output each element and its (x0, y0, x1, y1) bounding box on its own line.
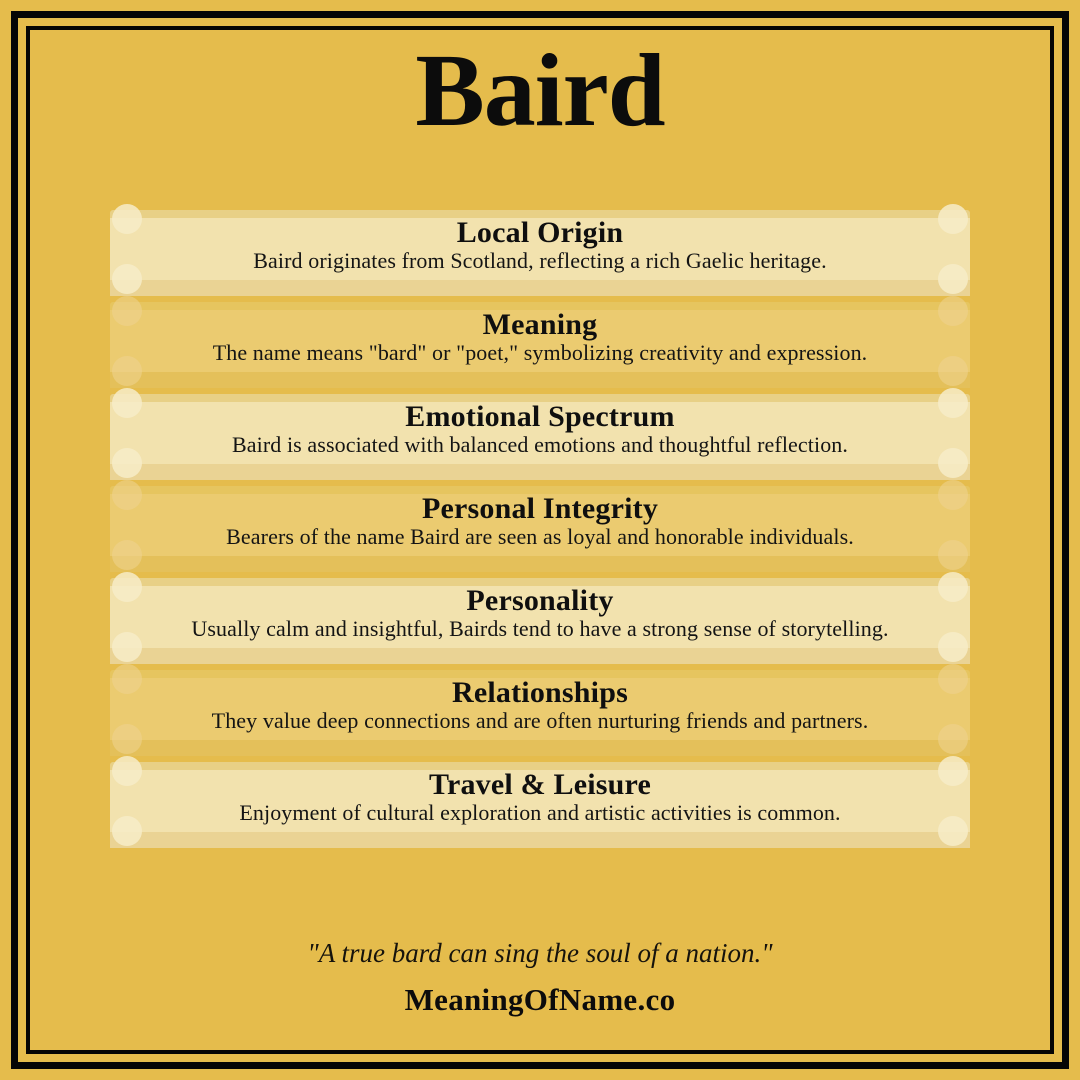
card-description: They value deep connections and are ofte… (110, 710, 970, 732)
card-title: Personality (110, 578, 970, 616)
card-text-block: Personal Integrity Bearers of the name B… (110, 486, 970, 548)
attribute-card: Emotional Spectrum Baird is associated w… (110, 394, 970, 486)
attribute-card: Personality Usually calm and insightful,… (110, 578, 970, 670)
card-text-block: Meaning The name means "bard" or "poet,"… (110, 302, 970, 364)
footer-quote: "A true bard can sing the soul of a nati… (0, 938, 1080, 969)
card-text-block: Relationships They value deep connection… (110, 670, 970, 732)
card-title: Relationships (110, 670, 970, 708)
card-text-block: Travel & Leisure Enjoyment of cultural e… (110, 762, 970, 824)
attribute-card: Local Origin Baird originates from Scotl… (110, 210, 970, 302)
card-title: Personal Integrity (110, 486, 970, 524)
name-meaning-poster: Baird Local Origin Baird originates from… (0, 0, 1080, 1080)
attribute-card-list: Local Origin Baird originates from Scotl… (110, 210, 970, 854)
card-title: Meaning (110, 302, 970, 340)
card-text-block: Personality Usually calm and insightful,… (110, 578, 970, 640)
card-title: Travel & Leisure (110, 762, 970, 800)
card-title: Local Origin (110, 210, 970, 248)
card-text-block: Local Origin Baird originates from Scotl… (110, 210, 970, 272)
attribute-card: Personal Integrity Bearers of the name B… (110, 486, 970, 578)
card-description: Bearers of the name Baird are seen as lo… (110, 526, 970, 548)
attribute-card: Meaning The name means "bard" or "poet,"… (110, 302, 970, 394)
attribute-card: Travel & Leisure Enjoyment of cultural e… (110, 762, 970, 854)
attribute-card: Relationships They value deep connection… (110, 670, 970, 762)
page-title: Baird (0, 36, 1080, 145)
card-description: Baird originates from Scotland, reflecti… (110, 250, 970, 272)
card-description: Usually calm and insightful, Bairds tend… (110, 618, 970, 640)
card-description: Enjoyment of cultural exploration and ar… (110, 802, 970, 824)
card-description: Baird is associated with balanced emotio… (110, 434, 970, 456)
card-title: Emotional Spectrum (110, 394, 970, 432)
footer-brand: MeaningOfName.co (0, 982, 1080, 1018)
card-description: The name means "bard" or "poet," symboli… (110, 342, 970, 364)
card-text-block: Emotional Spectrum Baird is associated w… (110, 394, 970, 456)
